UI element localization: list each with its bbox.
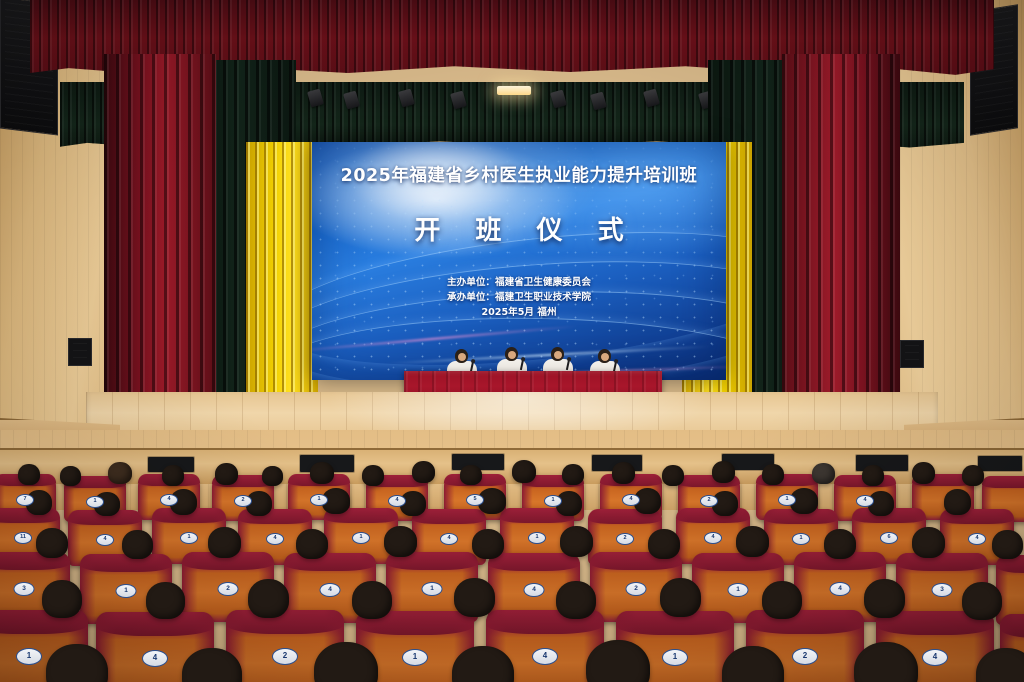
audience-head [762, 581, 802, 619]
audience-head [18, 464, 40, 485]
seat-number-badge: 2 [272, 648, 298, 665]
stage-curtain-red-right [782, 54, 900, 434]
audience-head [472, 529, 504, 559]
seat-number-badge: 4 [532, 648, 558, 665]
audience-head [824, 529, 856, 559]
seat-number-badge: 4 [830, 582, 851, 596]
seat-number-badge: 2 [700, 495, 718, 507]
audience-head [962, 582, 1002, 620]
seat-number-badge: 7 [16, 494, 34, 506]
seat-number-badge: 1 [792, 533, 810, 545]
audience-head [215, 463, 238, 485]
panelist-face [601, 353, 609, 361]
seat-number-badge: 2 [218, 582, 239, 596]
seat-number-badge: 4 [266, 533, 284, 545]
audience-head [262, 466, 283, 486]
seat-number-badge: 11 [14, 532, 32, 544]
seat-number-badge: 1 [662, 649, 688, 666]
audience-head [208, 527, 241, 558]
audience-head [736, 526, 769, 557]
screen-meta-block: 主办单位：福建省卫生健康委员会 承办单位：福建卫生职业技术学院 2025年5月 … [312, 275, 726, 320]
seat-number-badge: 4 [142, 650, 168, 667]
audience-head [944, 489, 971, 515]
auditorium-photo: 2025年福建省乡村医生执业能力提升培训班 开 班 仪 式 主办单位：福建省卫生… [0, 0, 1024, 682]
audience-head [362, 465, 384, 486]
audience-head [36, 528, 68, 558]
seat-number-badge: 1 [352, 532, 370, 544]
audience-head [762, 464, 784, 485]
audience-head [310, 462, 334, 484]
audience-head [712, 461, 735, 483]
screen-content: 2025年福建省乡村医生执业能力提升培训班 开 班 仪 式 主办单位：福建省卫生… [312, 142, 726, 380]
panelist-face [508, 351, 516, 359]
audience-head [162, 465, 184, 486]
audience-head [248, 579, 289, 618]
seat-number-badge: 4 [440, 533, 458, 545]
seat-number-badge: 1 [528, 532, 546, 544]
seat-number-badge: 6 [880, 532, 898, 544]
audience-seating: 7 1 4 2 1 4 5 1 4 2 1 4 [0, 452, 1024, 682]
audience-head [560, 526, 593, 557]
audience-head [962, 465, 984, 486]
screen-subtitle: 开 班 仪 式 [312, 210, 726, 247]
panelist-head [598, 349, 611, 363]
audience-head [562, 464, 584, 485]
audience-head [454, 578, 495, 617]
audience-head [122, 530, 153, 559]
screen-meta-line-organizer: 主办单位：福建省卫生健康委员会 [312, 275, 726, 290]
panelist-head [505, 347, 518, 361]
audience-head [108, 462, 132, 484]
stage-curtain-red-left [104, 54, 216, 434]
audience-head [912, 462, 935, 484]
audience-head [912, 527, 945, 558]
seat-number-badge: 2 [234, 495, 252, 507]
audience-head [296, 529, 328, 559]
seat-number-badge: 1 [86, 496, 104, 508]
audience-head [460, 465, 482, 485]
seat-number-badge: 4 [388, 495, 406, 507]
panelist-head [455, 349, 468, 363]
projection-screen: 2025年福建省乡村医生执业能力提升培训班 开 班 仪 式 主办单位：福建省卫生… [312, 142, 726, 380]
audience-head [60, 466, 81, 486]
seat-number-badge: 4 [320, 583, 341, 597]
audience-head [992, 530, 1023, 559]
seat-number-badge: 1 [402, 649, 428, 666]
audience-head [612, 462, 635, 484]
screen-meta-line-date: 2025年5月 福州 [312, 305, 726, 320]
seat-number-badge: 2 [792, 648, 818, 665]
seat-number-badge: 3 [932, 583, 953, 597]
audience-head [556, 581, 596, 619]
wall-vent-icon [900, 340, 924, 368]
audience-head [352, 581, 392, 619]
house-light-icon [497, 86, 531, 95]
audience-head [42, 580, 82, 618]
seat-number-badge: 3 [14, 582, 35, 596]
seat-number-badge: 1 [16, 648, 42, 665]
seat-number-badge: 1 [544, 495, 562, 507]
panelist-head [551, 347, 564, 361]
seat-number-badge: 1 [310, 494, 328, 506]
audience-head [648, 529, 680, 559]
seat-number-badge: 1 [116, 584, 137, 598]
seat-number-badge: 4 [856, 495, 874, 507]
audience-head [146, 582, 185, 619]
seat-number-badge: 4 [704, 532, 722, 544]
screen-title: 2025年福建省乡村医生执业能力提升培训班 [312, 162, 726, 187]
seat-number-badge: 4 [968, 533, 986, 545]
audience-head [384, 526, 417, 557]
seat-number-badge: 1 [422, 582, 443, 596]
audience-head [662, 465, 684, 486]
seat-number-badge: 4 [524, 583, 545, 597]
audience-head [512, 460, 536, 483]
seat-number-badge: 1 [180, 532, 198, 544]
seat-number-badge: 4 [160, 494, 178, 506]
stage-curtain-yellow-left [246, 142, 318, 418]
panelist-face [458, 353, 466, 361]
seat-number-badge: 4 [622, 494, 640, 506]
seat-number-badge: 4 [922, 649, 948, 666]
panelist-face [554, 351, 562, 359]
seat-number-badge: 1 [728, 583, 749, 597]
screen-meta-line-host: 承办单位：福建卫生职业技术学院 [312, 290, 726, 305]
seat-number-badge: 1 [778, 494, 796, 506]
audience-head [812, 463, 835, 484]
audience-head [864, 579, 905, 618]
audience-head [862, 465, 884, 486]
audience-head [412, 461, 435, 483]
seat-number-badge: 2 [616, 533, 634, 545]
audience-head [660, 578, 701, 617]
seat-number-badge: 2 [626, 582, 647, 596]
seat-number-badge: 5 [466, 494, 484, 506]
seat-number-badge: 4 [96, 534, 114, 546]
wall-vent-icon [68, 338, 92, 366]
